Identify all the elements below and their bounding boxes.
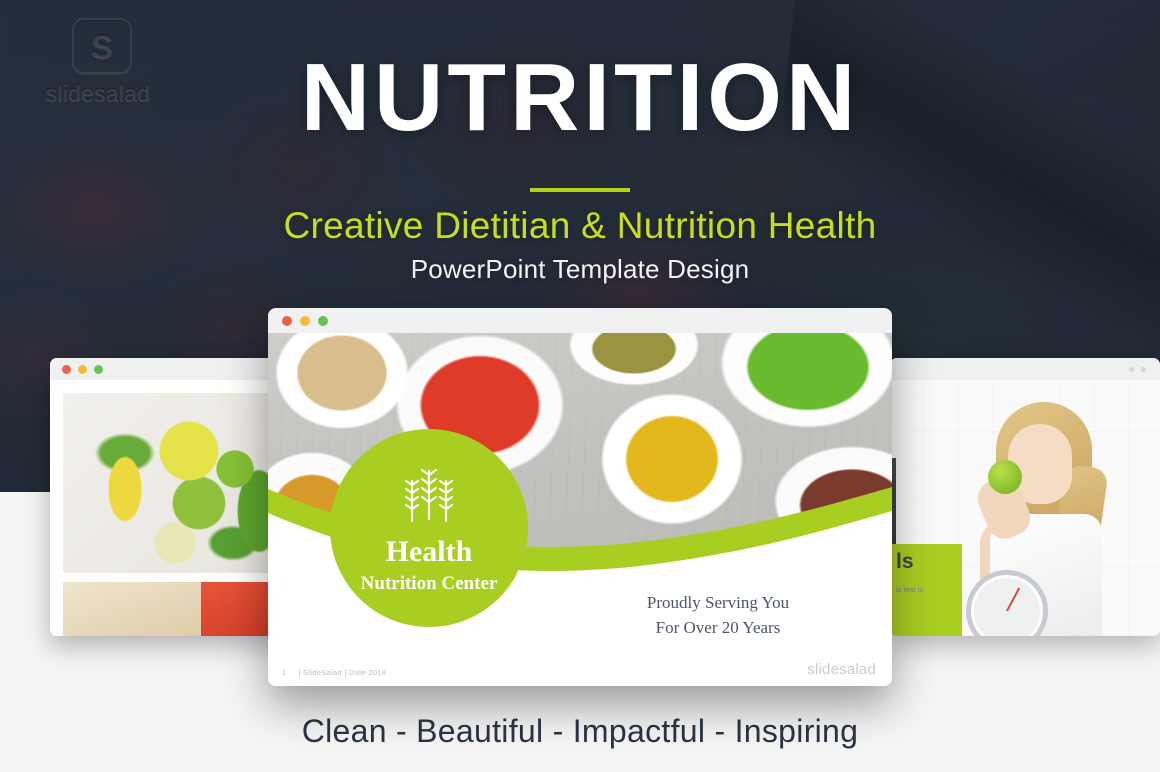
maximize-dot-icon[interactable] [94, 365, 103, 374]
footer-credit: | SlideSalad | Date 2018 [298, 668, 386, 677]
photo-apple [988, 460, 1022, 494]
strip-photo-oats [63, 582, 201, 636]
center-slide-footer: 1| SlideSalad | Date 2018 [282, 668, 386, 677]
logo-title: Health [386, 537, 473, 567]
minimize-dot-icon[interactable] [78, 365, 87, 374]
center-slide-tagline: Proudly Serving You For Over 20 Years [598, 591, 838, 640]
right-slide-body-text: is text is [896, 585, 923, 594]
tagline-line-2: For Over 20 Years [598, 616, 838, 641]
close-dot-icon[interactable] [62, 365, 71, 374]
wheat-icon [397, 463, 461, 525]
center-window-titlebar [268, 308, 892, 333]
right-window-titlebar [890, 358, 1160, 380]
center-slide-content: Health Nutrition Center Proudly Serving … [268, 333, 892, 686]
tagline-line-1: Proudly Serving You [598, 591, 838, 616]
minimize-dot-icon[interactable] [300, 316, 310, 326]
page-title: NUTRITION [0, 48, 1160, 149]
slidesalad-watermark: slidesalad [807, 661, 876, 678]
window-dot-icon-a[interactable] [1129, 367, 1134, 372]
right-slide-content: ls is text is [890, 380, 1160, 636]
left-slide-photo [63, 393, 285, 573]
slide-number: 1 [282, 668, 286, 677]
logo-subtitle: Nutrition Center [361, 574, 498, 593]
right-slide-window[interactable]: ls is text is [890, 358, 1160, 636]
poster-tagline: Clean - Beautiful - Impactful - Inspirin… [0, 713, 1160, 750]
right-slide-heading: ls [896, 550, 914, 574]
hero-sub-subtitle: PowerPoint Template Design [0, 254, 1160, 285]
health-nutrition-center-logo: Health Nutrition Center [330, 429, 528, 627]
maximize-dot-icon[interactable] [318, 316, 328, 326]
hero-subtitle: Creative Dietitian & Nutrition Health [0, 205, 1160, 247]
title-divider [530, 188, 630, 192]
window-dot-icon-b[interactable] [1141, 367, 1146, 372]
right-slide-photo [944, 394, 1134, 636]
center-slide-window[interactable]: Health Nutrition Center Proudly Serving … [268, 308, 892, 686]
close-dot-icon[interactable] [282, 316, 292, 326]
poster-stage: S slidesalad NUTRITION Creative Dietitia… [0, 0, 1160, 772]
